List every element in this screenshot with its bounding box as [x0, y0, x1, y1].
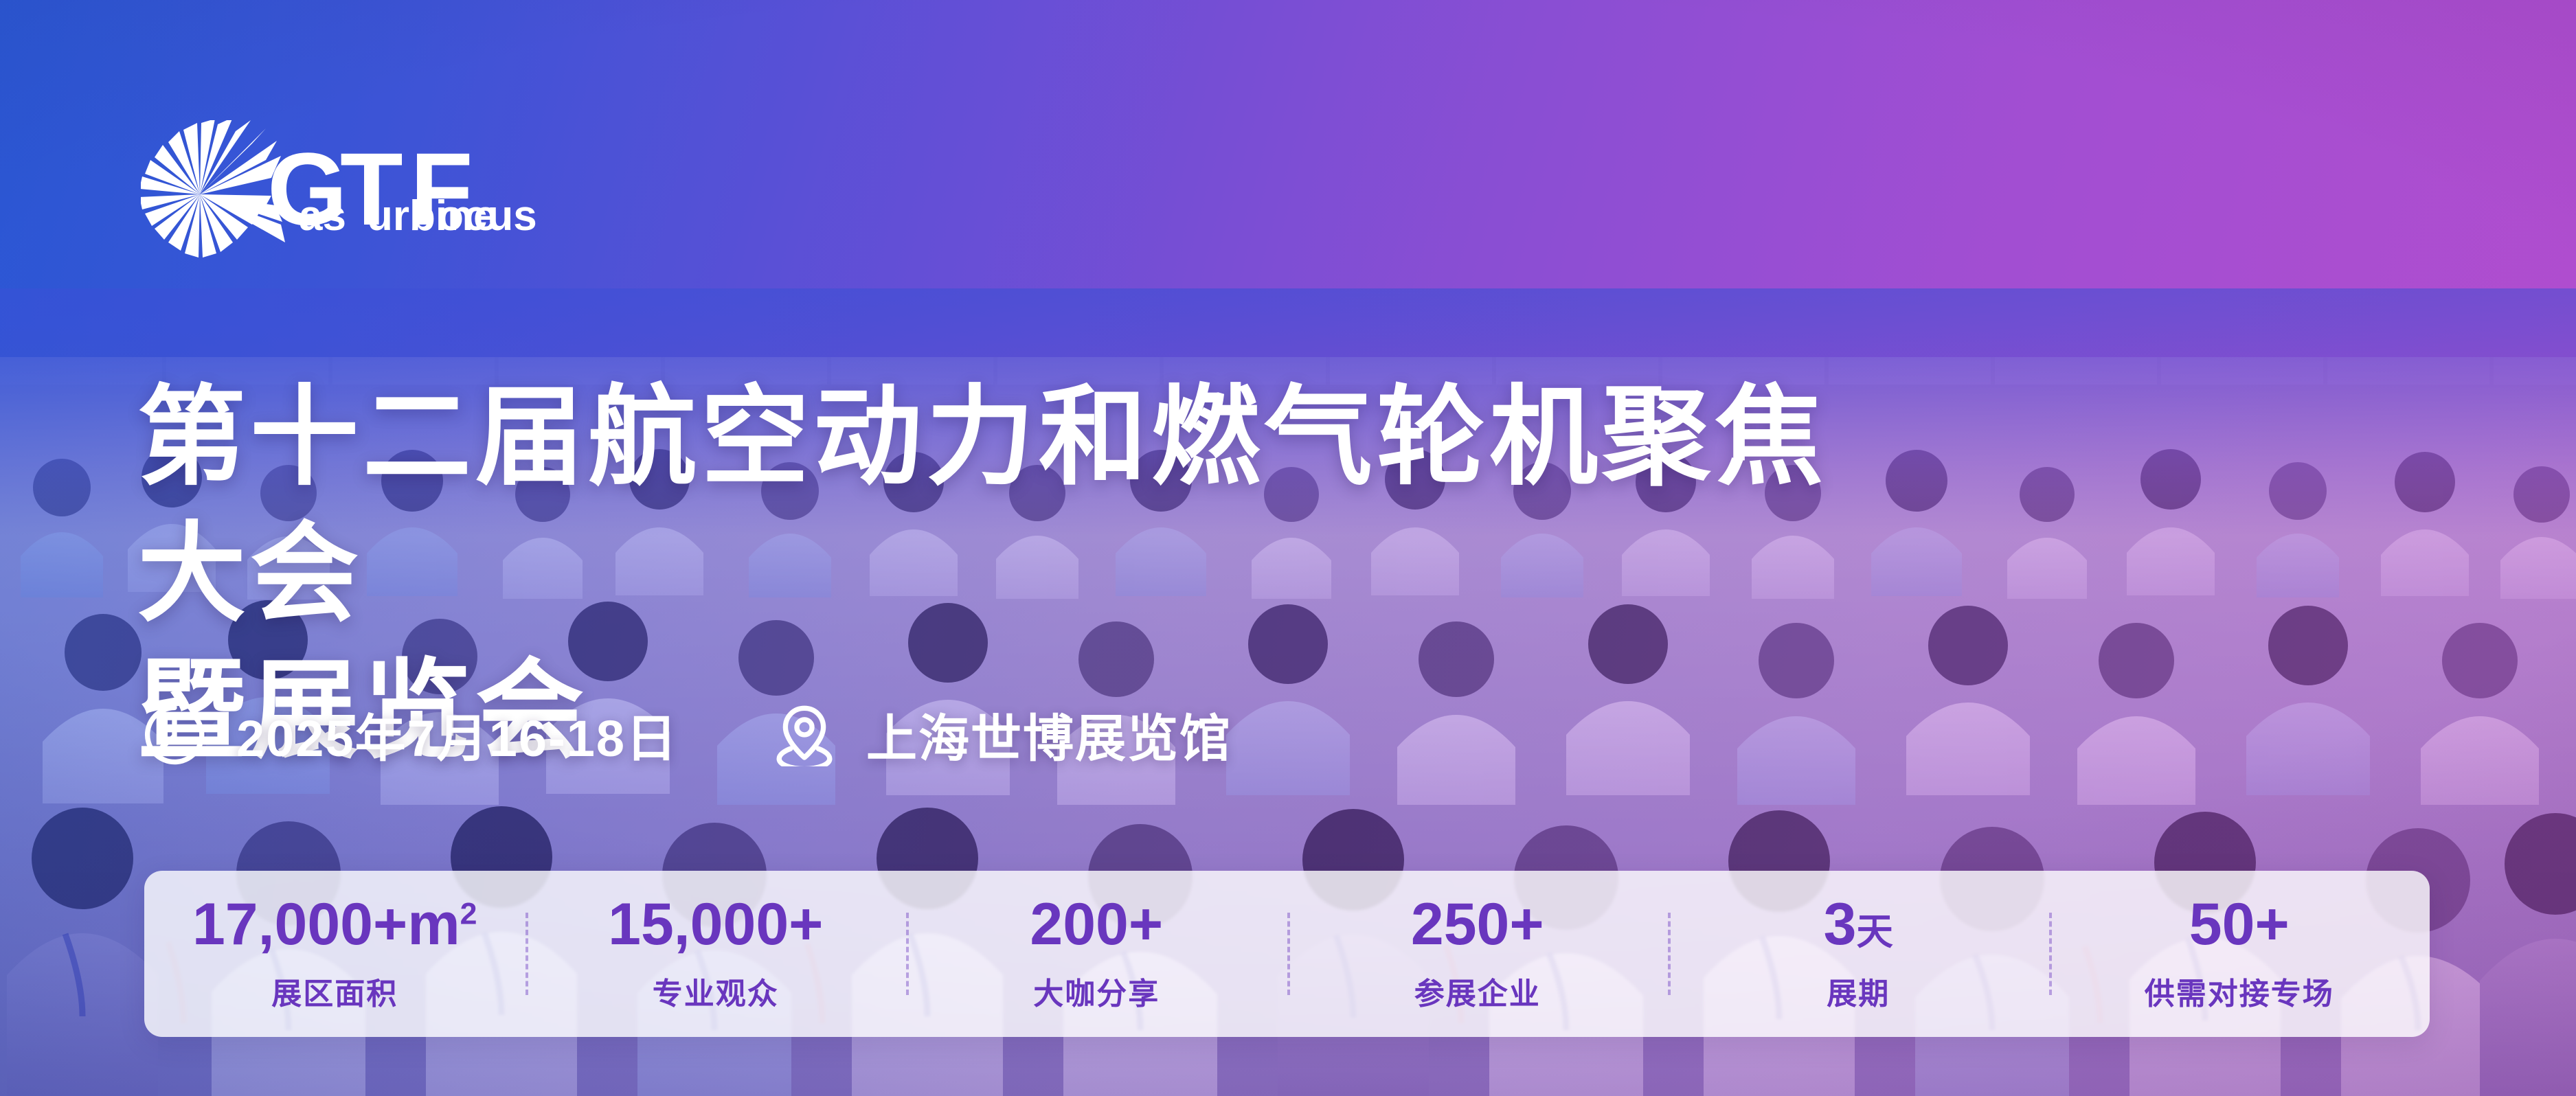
event-venue: 上海世博展览馆 [773, 698, 1232, 771]
stat-label: 展区面积 [271, 969, 398, 1013]
stat-label: 参展企业 [1414, 969, 1541, 1013]
headline-line-1: 第十二届航空动力和燃气轮机聚焦大会 [137, 377, 1827, 635]
event-venue-text: 上海世博展览馆 [866, 698, 1232, 771]
stat-value-text: 15,000+ [608, 891, 823, 957]
stat-value: 200+ [1030, 895, 1163, 954]
stat-label: 供需对接专场 [2145, 969, 2334, 1013]
stat-value-text: 3 [1824, 891, 1857, 957]
stat-item-duration: 3天 展期 [1668, 895, 2049, 1013]
stat-value: 15,000+ [608, 895, 823, 954]
stat-value-text: 50+ [2189, 891, 2290, 957]
stat-item-professional-visitors: 15,000+ 专业观众 [526, 895, 907, 1013]
stat-label: 大咖分享 [1033, 969, 1160, 1013]
event-meta: 2025年7月16-18日 上海世博展览馆 [143, 698, 1232, 771]
stat-item-exhibition-area: 17,000+m2 展区面积 [144, 895, 526, 1013]
stat-value: 17,000+m2 [192, 895, 477, 954]
stat-item-matchmaking-sessions: 50+ 供需对接专场 [2049, 895, 2430, 1013]
stat-value: 50+ [2189, 895, 2290, 954]
logo-word-focus: ocus [438, 192, 537, 240]
stat-value-text: 200+ [1030, 891, 1163, 957]
clock-icon [143, 703, 206, 766]
gtf-logo[interactable]: G T F as urbine ocus [141, 120, 539, 264]
stat-value-text: 17,000+m [192, 891, 460, 957]
stat-item-expert-talks: 200+ 大咖分享 [906, 895, 1287, 1013]
stat-value: 250+ [1411, 895, 1544, 954]
stat-item-exhibitors: 250+ 参展企业 [1287, 895, 1669, 1013]
location-pin-icon [773, 703, 836, 766]
banner-content: G T F as urbine ocus 第十二届航空动力和燃气轮机聚焦大会 暨… [0, 0, 2576, 1096]
stat-label: 展期 [1827, 969, 1890, 1013]
logo-word-gas: as [299, 192, 346, 240]
stat-value-text: 250+ [1411, 891, 1544, 957]
stat-label: 专业观众 [653, 969, 779, 1013]
stat-value: 3天 [1824, 895, 1893, 954]
event-banner: G T F as urbine ocus 第十二届航空动力和燃气轮机聚焦大会 暨… [0, 0, 2576, 1096]
stat-value-unit: 天 [1857, 912, 1893, 952]
event-date: 2025年7月16-18日 [143, 698, 678, 771]
gtf-logo-svg: G T F as urbine ocus [141, 120, 539, 264]
stat-value-sup: 2 [460, 897, 477, 931]
stats-bar: 17,000+m2 展区面积 15,000+ 专业观众 200+ 大咖分享 25… [144, 871, 2430, 1037]
turbine-fan-burst-icon [141, 120, 285, 258]
event-date-text: 2025年7月16-18日 [236, 698, 678, 771]
